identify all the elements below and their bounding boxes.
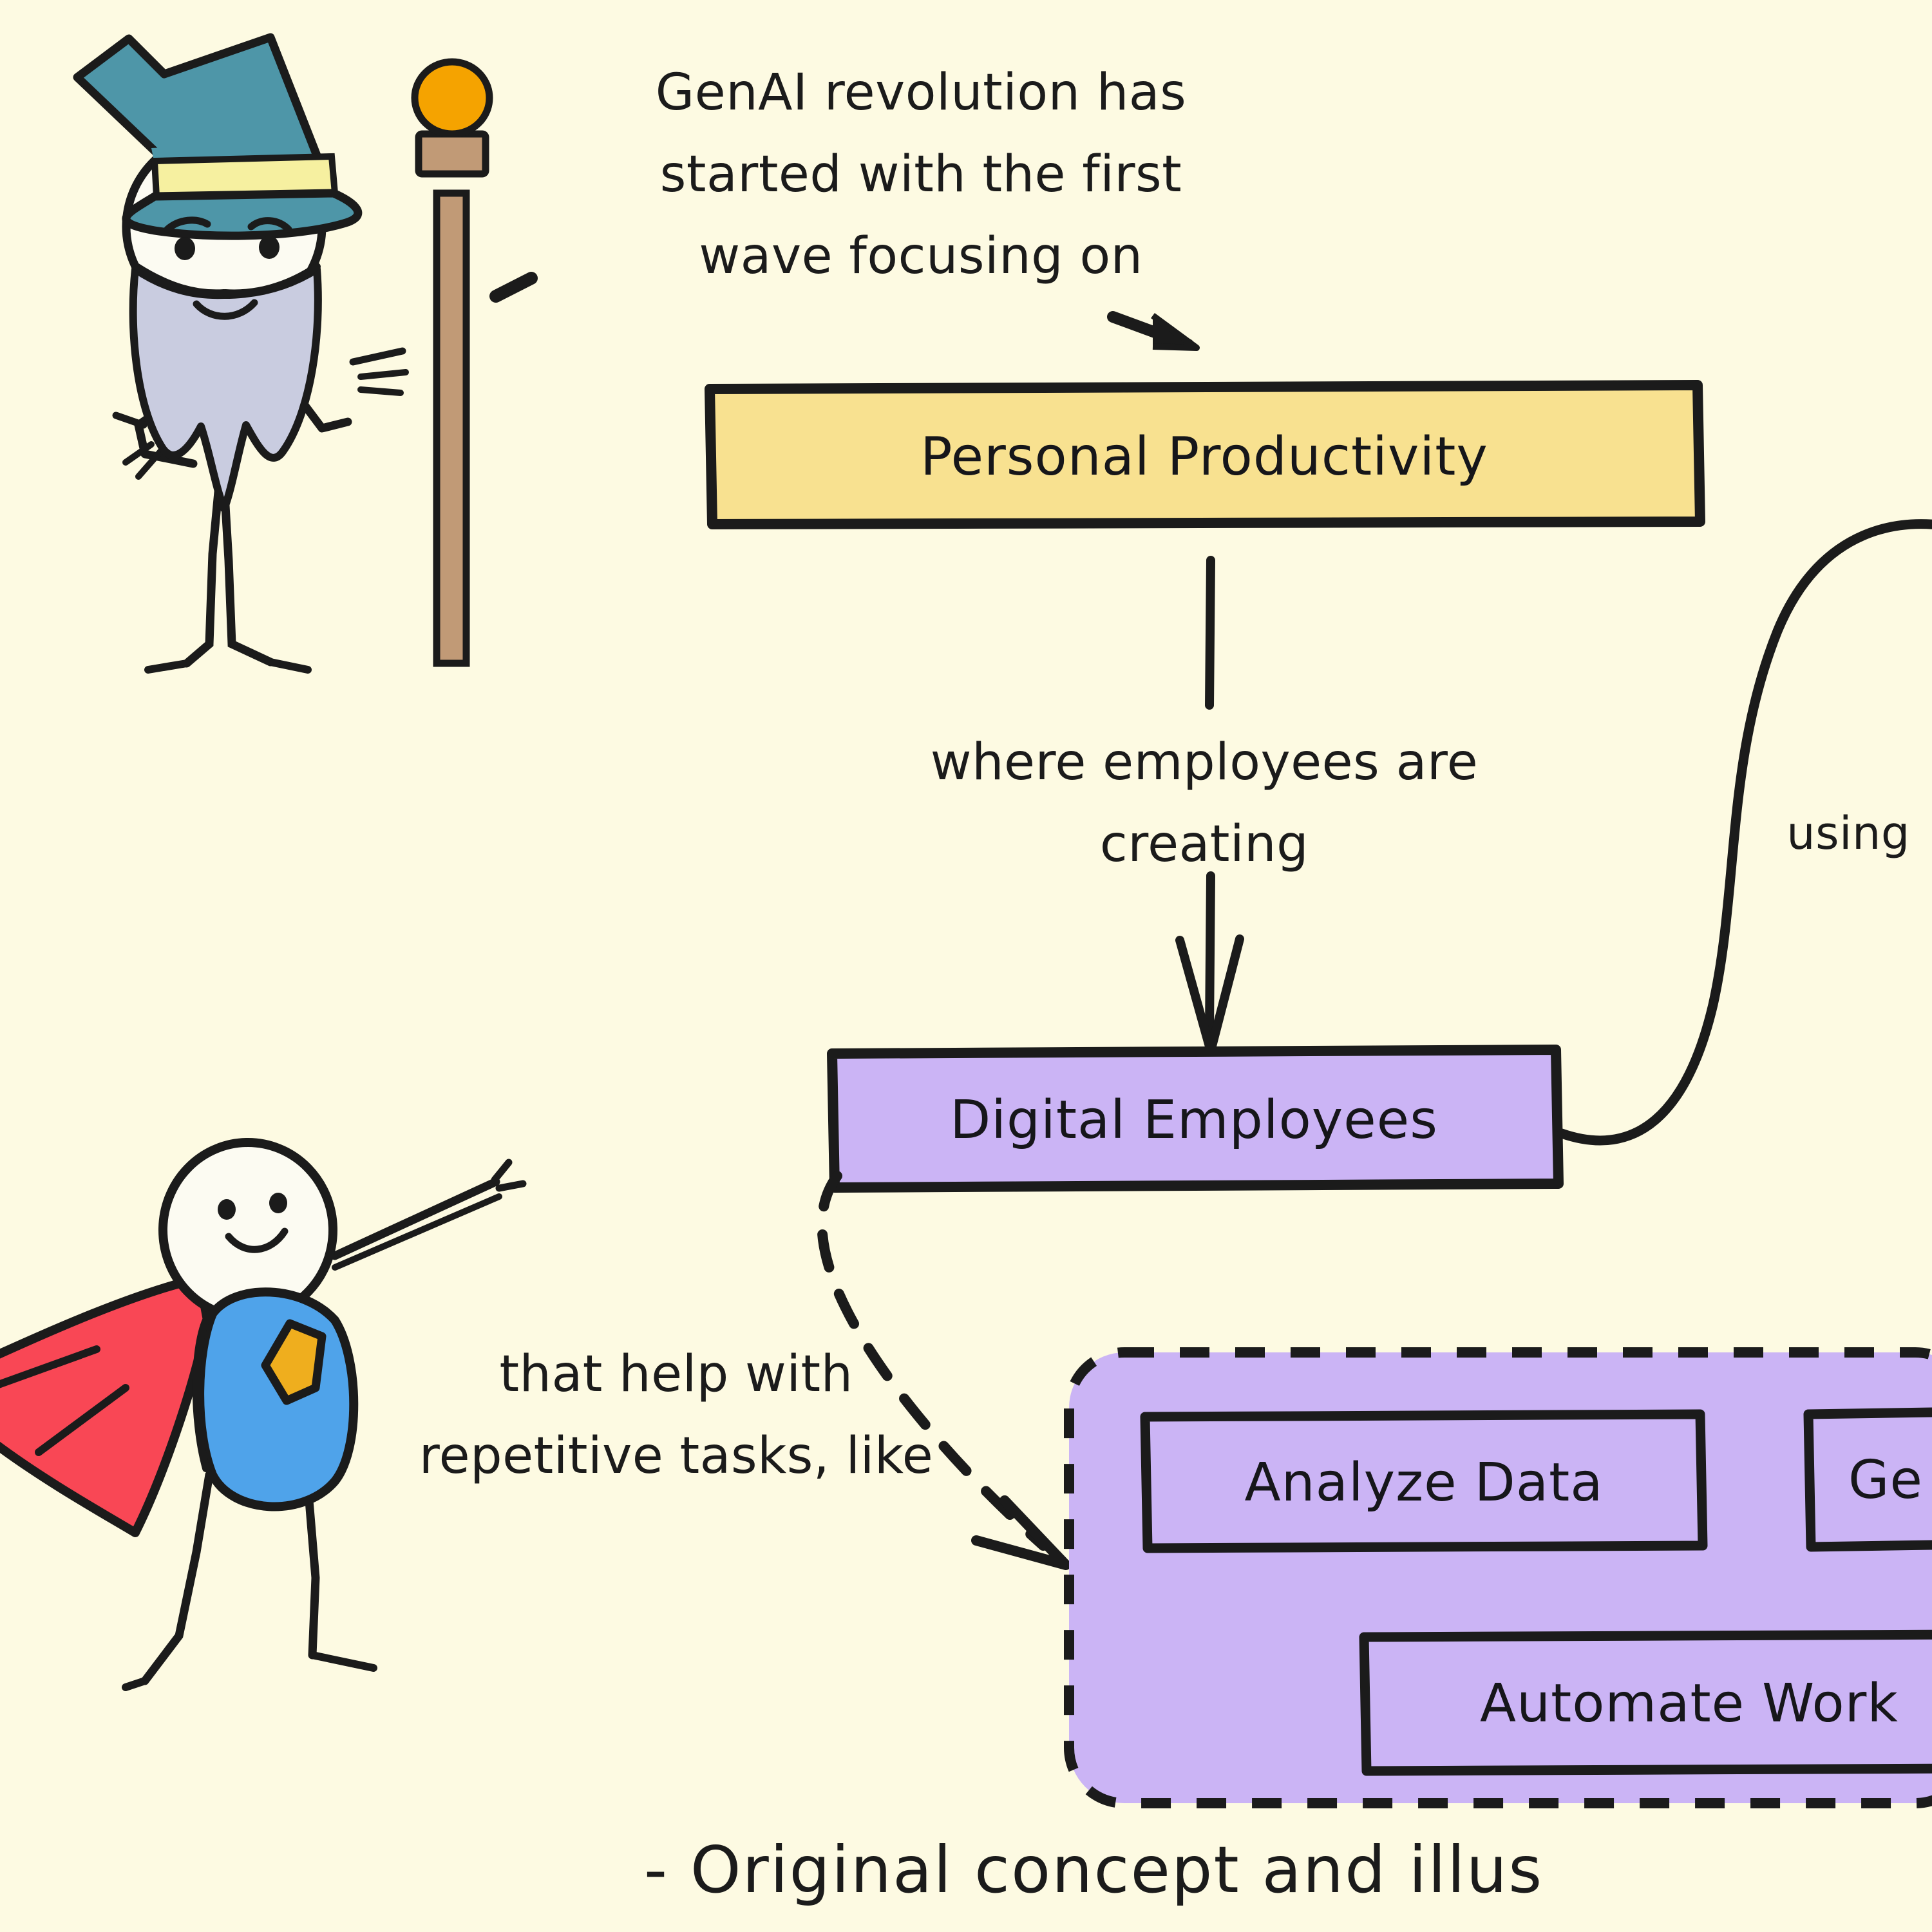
wizard-hat-icon: [77, 37, 358, 236]
digital-employees-label: Digital Employees: [832, 1054, 1556, 1186]
personal-productivity-label: Personal Productivity: [710, 389, 1699, 524]
helping-narration-line-2: repetitive tasks, like: [303, 1425, 1050, 1489]
helping-narration-line-1: that help with: [348, 1343, 1005, 1407]
intro-to-productivity-arrow: [1113, 316, 1197, 348]
task-label-analyze-data: Analyze Data: [1145, 1417, 1703, 1548]
wizard-character: [77, 37, 489, 670]
credit-line: - Original concept and illus: [644, 1829, 1932, 1911]
superhero-character: [0, 1142, 523, 1687]
diagram-canvas: GenAI revolution has started with the fi…: [0, 0, 1932, 1932]
intro-narration-line-3: wave focusing on: [541, 225, 1301, 289]
creating-narration-line-2: creating: [831, 813, 1578, 877]
wizard-staff: [415, 62, 489, 663]
creating-narration-line-1: where employees are: [831, 731, 1578, 795]
wizard-pointer-dash: [496, 278, 531, 296]
task-label-generate: Ge: [1808, 1414, 1932, 1546]
productivity-to-employees-arrow: [1180, 560, 1240, 1051]
intro-narration-line-1: GenAI revolution has: [541, 61, 1301, 126]
task-label-automate-work: Automate Work: [1367, 1637, 1932, 1770]
using-connector-label: using: [1765, 805, 1932, 863]
intro-narration-line-2: started with the first: [541, 143, 1301, 207]
